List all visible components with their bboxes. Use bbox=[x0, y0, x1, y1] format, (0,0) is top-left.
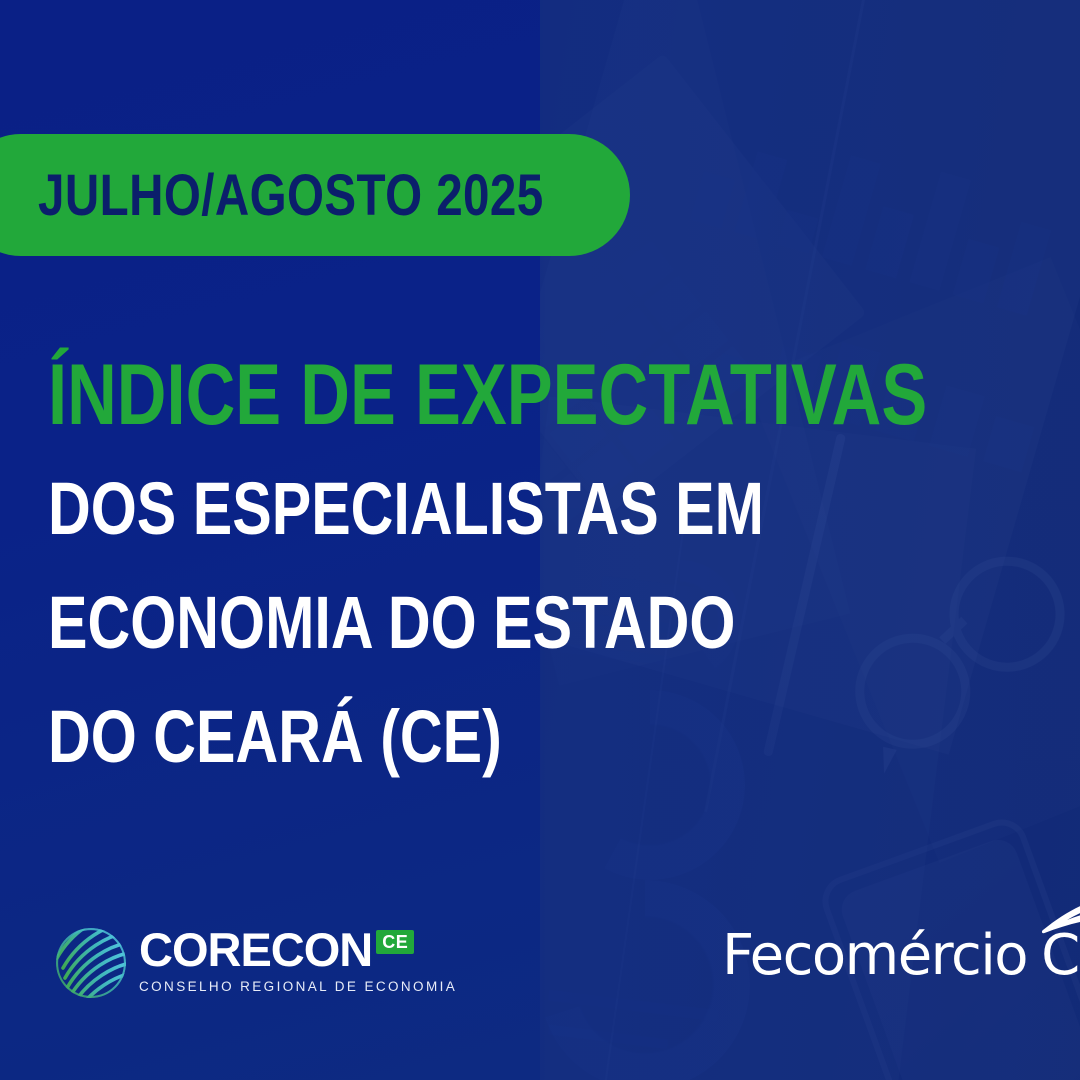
wing-feather-icon bbox=[1033, 890, 1080, 934]
globe-stripes-icon bbox=[55, 918, 127, 1004]
fecomercio-logo: Fecomércio CE bbox=[722, 928, 1080, 984]
corecon-wordmark: CORECON bbox=[139, 928, 372, 973]
date-badge-label: JULHO/AGOSTO 2025 bbox=[38, 162, 544, 229]
date-badge: JULHO/AGOSTO 2025 bbox=[0, 134, 630, 256]
title-line-2: DOS ESPECIALISTAS EM bbox=[48, 472, 816, 546]
title-line-3: ECONOMIA DO ESTADO bbox=[48, 586, 816, 660]
page-title: ÍNDICE DE EXPECTATIVAS DOS ESPECIALISTAS… bbox=[48, 352, 1008, 774]
corecon-state-badge: CE bbox=[376, 930, 414, 954]
title-line-1: ÍNDICE DE EXPECTATIVAS bbox=[48, 352, 816, 438]
poster-canvas: JULHO/AGOSTO 2025 ÍNDICE DE EXPECTATIVAS… bbox=[0, 0, 1080, 1080]
title-line-4: DO CEARÁ (CE) bbox=[48, 700, 816, 774]
fecomercio-wordmark: Fecomércio bbox=[722, 928, 1027, 984]
corecon-wordmark-block: CORECON CE CONSELHO REGIONAL DE ECONOMIA bbox=[139, 928, 457, 995]
corecon-logo: CORECON CE CONSELHO REGIONAL DE ECONOMIA bbox=[55, 918, 457, 1004]
corecon-tagline: CONSELHO REGIONAL DE ECONOMIA bbox=[139, 979, 457, 994]
